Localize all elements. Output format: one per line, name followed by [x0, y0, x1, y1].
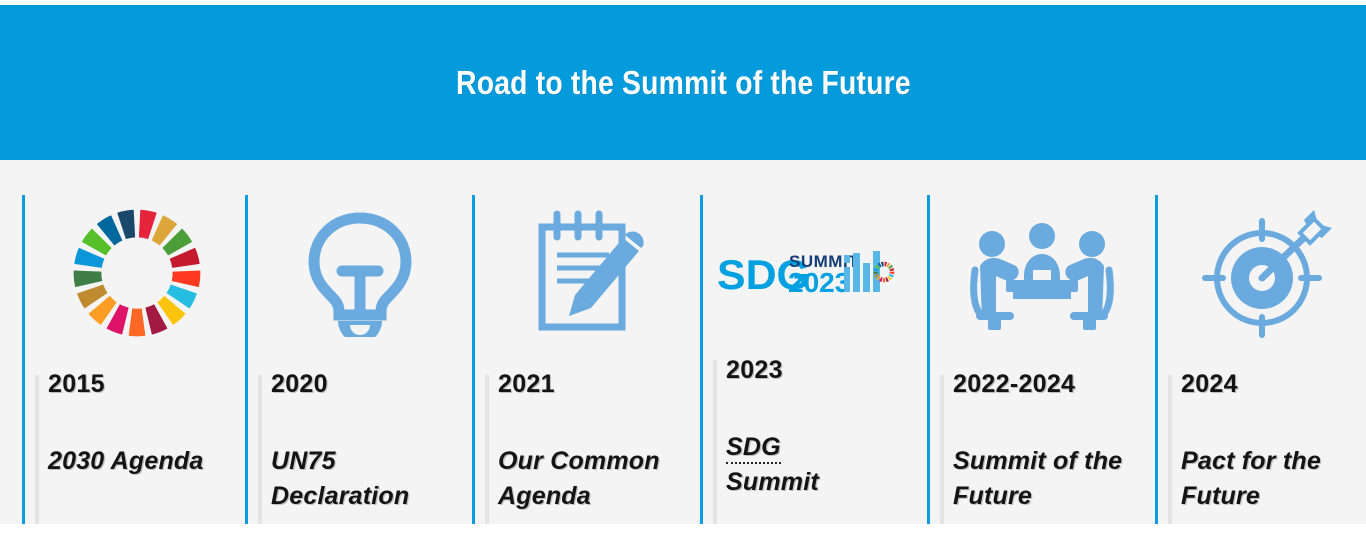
sdg-wheel-segment: [881, 261, 884, 266]
meeting-table-icon: [949, 190, 1134, 355]
label-accent-bar: [35, 375, 39, 524]
timeline-labels: 2015 2030 Agenda: [48, 370, 238, 479]
timeline-item-2020[interactable]: 2020 UN75 Declaration: [245, 160, 472, 524]
sdg-wheel-icon: [44, 190, 229, 355]
sdg-wheel-segment: [128, 308, 145, 336]
sdg-wheel-segment: [138, 209, 156, 238]
timeline-strip: 2015 2030 Agenda: [0, 160, 1366, 524]
title-line: Our Common: [498, 444, 688, 479]
sdg-wheel-segment: [117, 209, 135, 238]
timeline-labels: 2023 SDG Summit: [726, 356, 916, 499]
misspelled-word: SDG: [726, 433, 781, 464]
column-divider: [472, 195, 475, 524]
timeline-labels: 2022-2024 Summit of the Future: [953, 370, 1143, 513]
label-accent-bar: [485, 375, 489, 524]
timeline-year: 2020: [271, 370, 461, 399]
logo-year-2023: 2023: [788, 267, 850, 298]
title-line: Summit: [726, 465, 916, 500]
timeline-title: SDG Summit: [726, 430, 916, 499]
sdg-wheel-segment: [890, 271, 895, 274]
timeline-year: 2021: [498, 370, 688, 399]
column-divider: [1155, 195, 1158, 524]
lightbulb-icon: [267, 190, 452, 355]
timeline-item-2024[interactable]: 2024 Pact for the Future: [1155, 160, 1366, 524]
timeline-year: 2022-2024: [953, 370, 1143, 399]
column-divider: [927, 195, 930, 524]
timeline-item-2022-2024[interactable]: 2022-2024 Summit of the Future: [927, 160, 1155, 524]
timeline-labels: 2024 Pact for the Future: [1181, 370, 1366, 513]
label-accent-bar: [940, 375, 944, 524]
label-accent-bar: [258, 375, 262, 524]
notepad-pencil-icon: [494, 190, 679, 355]
sdg-wheel-segment: [884, 261, 887, 266]
timeline-item-2015[interactable]: 2015 2030 Agenda: [22, 160, 245, 524]
title-line: Pact for the: [1181, 444, 1366, 479]
timeline-title: Summit of the Future: [953, 444, 1143, 513]
column-divider: [700, 195, 703, 524]
title-line: 2030 Agenda: [48, 444, 238, 479]
sdg-wheel-segment: [73, 270, 102, 287]
timeline-year: 2015: [48, 370, 238, 399]
title-line: SDG: [726, 430, 916, 465]
sdg-wheel-segment: [171, 270, 200, 287]
title-line: Future: [953, 479, 1143, 514]
sdg-wheel-segment: [883, 277, 886, 282]
timeline-title: 2030 Agenda: [48, 444, 238, 479]
page-title: Road to the Summit of the Future: [456, 64, 911, 102]
column-divider: [245, 195, 248, 524]
header-banner: Road to the Summit of the Future: [0, 5, 1366, 160]
title-line: Agenda: [498, 479, 688, 514]
title-line: Declaration: [271, 479, 461, 514]
title-line: Summit of the: [953, 444, 1143, 479]
title-line: Future: [1181, 479, 1366, 514]
timeline-title: Pact for the Future: [1181, 444, 1366, 513]
label-accent-bar: [1168, 375, 1172, 524]
infographic-root: Road to the Summit of the Future 2015 20…: [0, 0, 1366, 541]
logo-bar-chart: [844, 251, 880, 292]
timeline-title: UN75 Declaration: [271, 444, 461, 513]
timeline-title: Our Common Agenda: [498, 444, 688, 513]
column-divider: [22, 195, 25, 524]
timeline-labels: 2020 UN75 Declaration: [271, 370, 461, 513]
timeline-item-2021[interactable]: 2021 Our Common Agenda: [472, 160, 700, 524]
label-accent-bar: [713, 360, 717, 524]
timeline-labels: 2021 Our Common Agenda: [498, 370, 688, 513]
sdg-summit-2023-logo: SDG SUMMIT 2023: [712, 190, 912, 355]
title-line: UN75: [271, 444, 461, 479]
timeline-year: 2024: [1181, 370, 1366, 399]
target-arrow-icon: [1177, 190, 1362, 355]
timeline-year: 2023: [726, 356, 916, 385]
timeline-item-2023[interactable]: SDG SUMMIT 2023 2023: [700, 160, 927, 524]
